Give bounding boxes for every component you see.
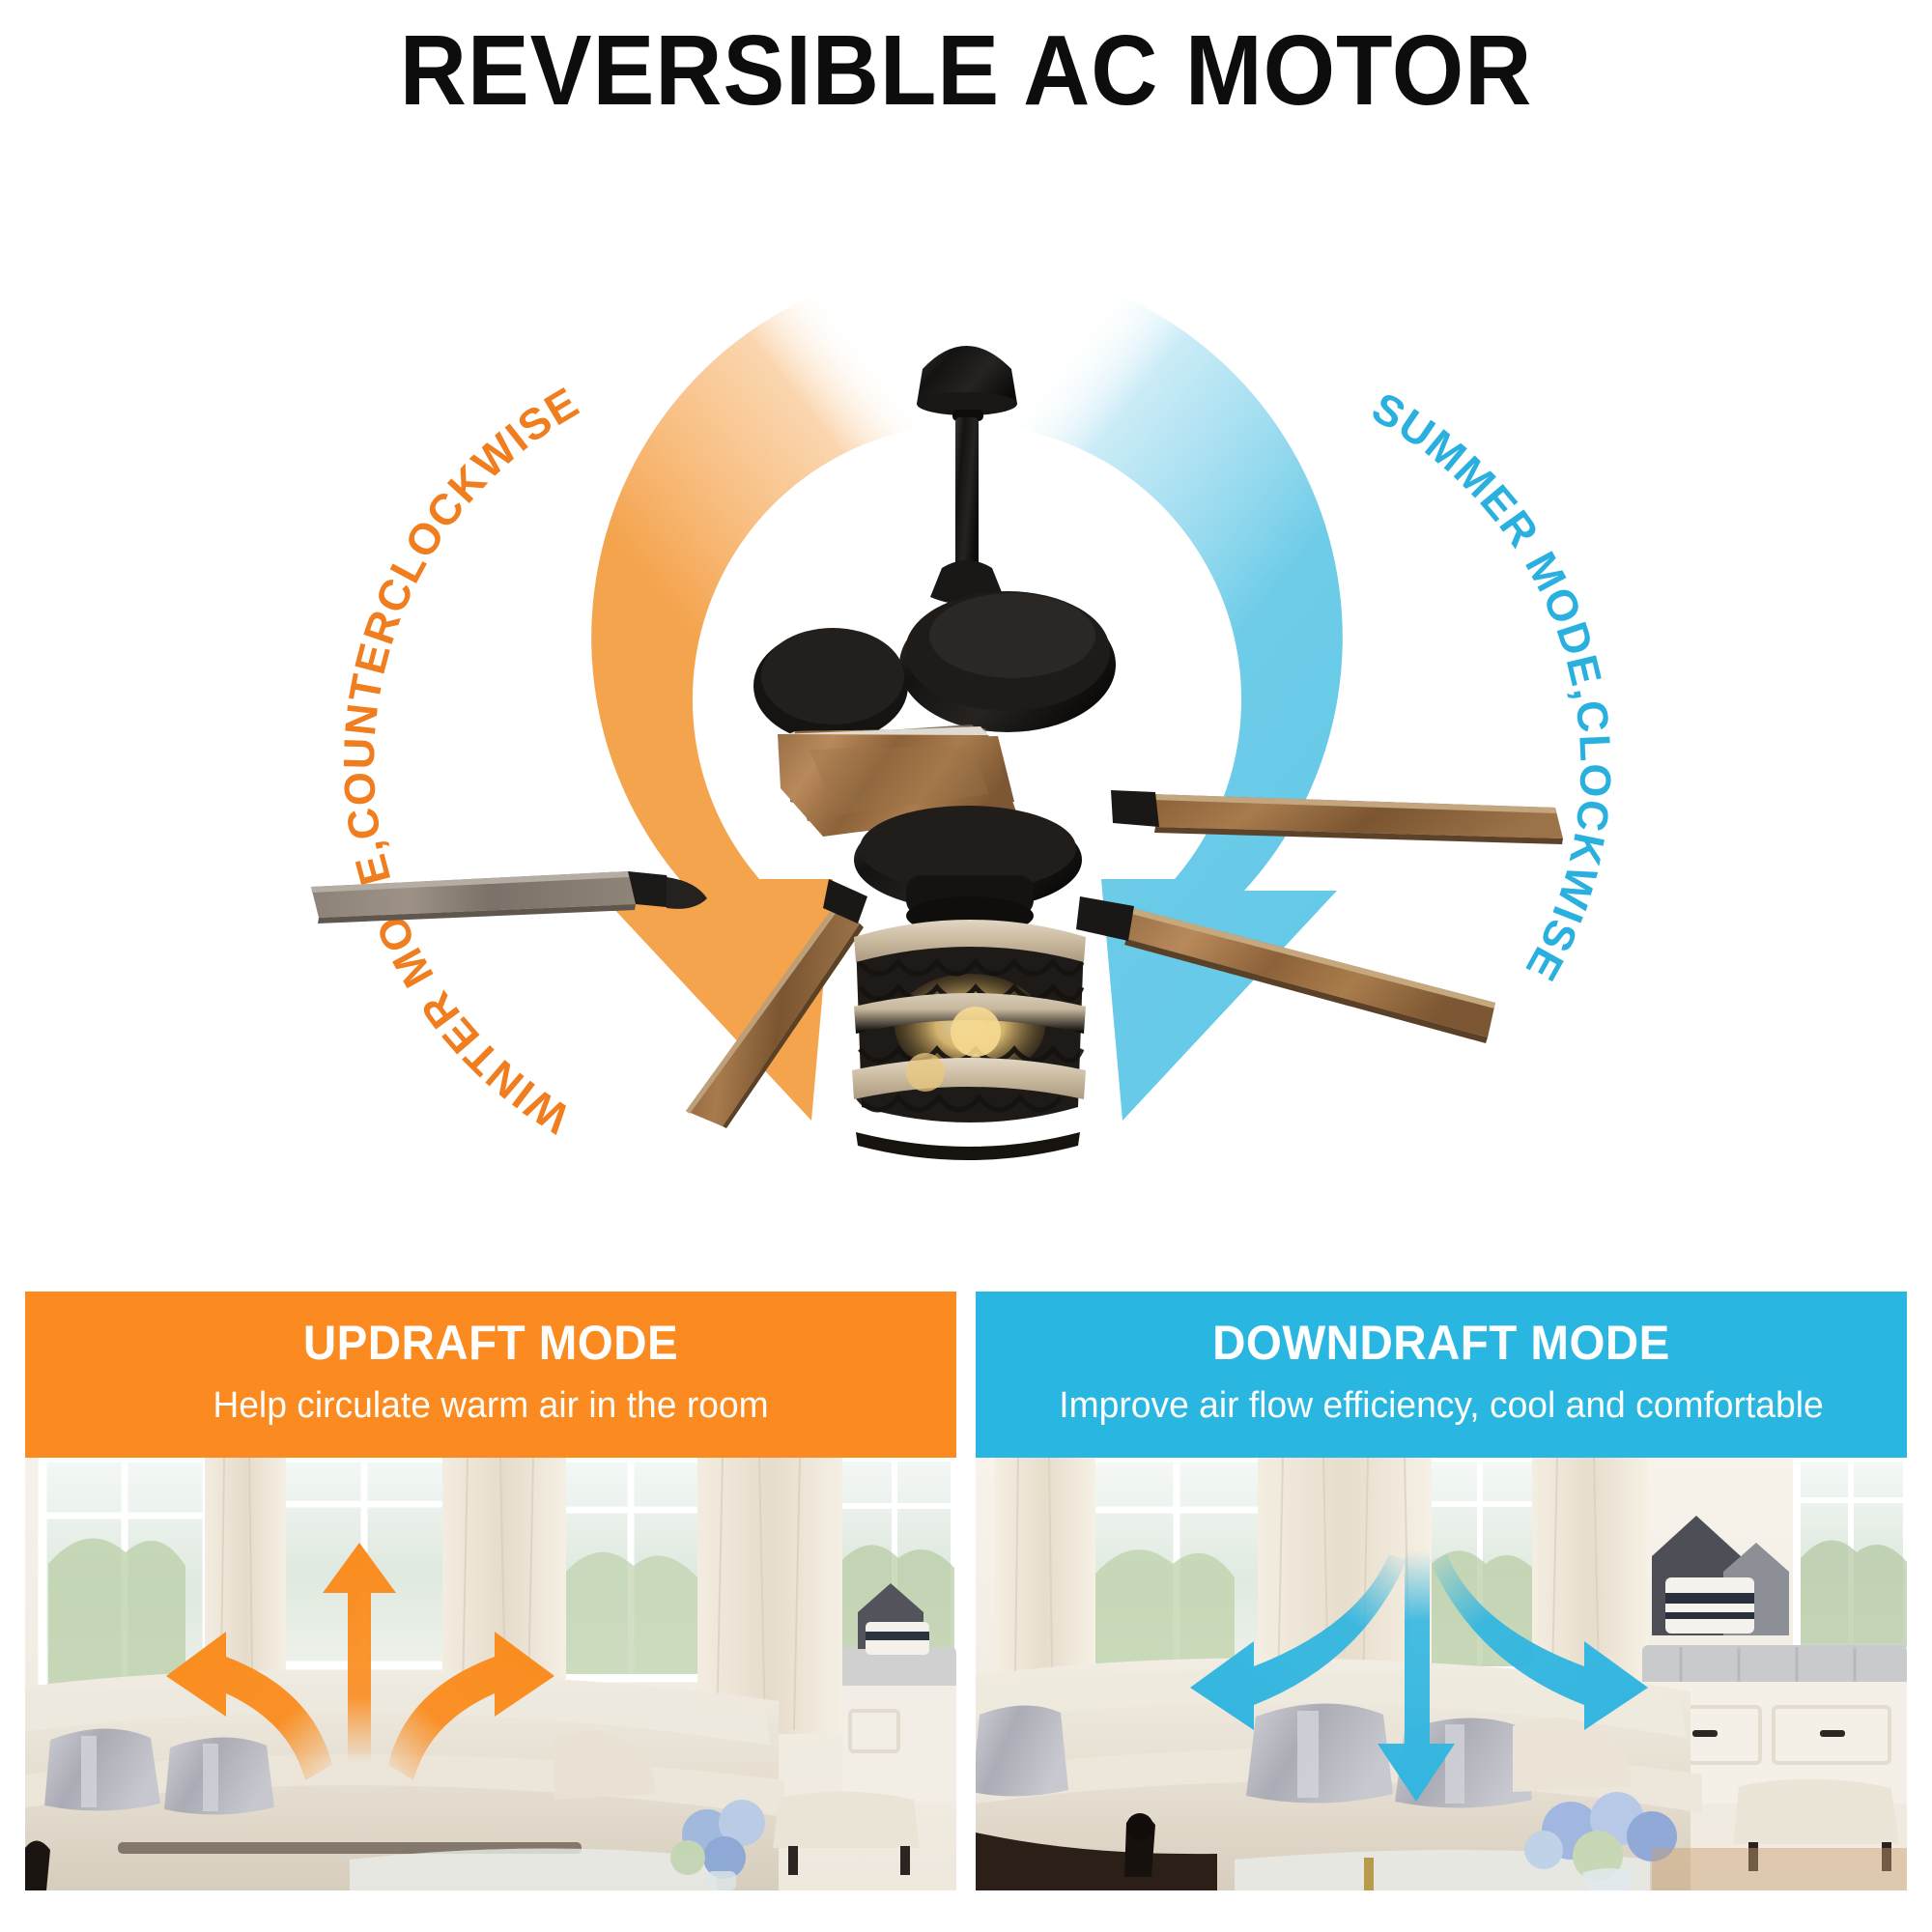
panel-updraft[interactable]: UPDRAFT MODE Help circulate warm air in … [25, 1292, 956, 1890]
curve-left-arrow [166, 1632, 332, 1780]
panel-downdraft[interactable]: DOWNDRAFT MODE Improve air flow efficien… [976, 1292, 1907, 1890]
curve-right-arrow [1430, 1554, 1648, 1730]
panel-updraft-subtitle: Help circulate warm air in the room [35, 1380, 948, 1431]
updraft-airflow-arrows [25, 1458, 956, 1890]
motor-housing [753, 560, 1116, 742]
panel-downdraft-header: DOWNDRAFT MODE Improve air flow efficien… [976, 1292, 1907, 1458]
panel-downdraft-subtitle: Improve air flow efficiency, cool and co… [985, 1380, 1898, 1431]
page-title: REVERSIBLE AC MOTOR [68, 17, 1864, 124]
panel-updraft-header: UPDRAFT MODE Help circulate warm air in … [25, 1292, 956, 1458]
curve-left-arrow [1190, 1554, 1406, 1730]
light-kit [852, 920, 1086, 1160]
reversible-motor-diagram: WINTER MODE,COUNTERCLOCKWISE SUMMER MODE… [0, 145, 1932, 1265]
up-center-arrow [323, 1543, 396, 1763]
downrod-icon [955, 417, 979, 572]
panel-downdraft-photo [976, 1458, 1907, 1890]
mode-panels: UPDRAFT MODE Help circulate warm air in … [0, 1292, 1932, 1890]
panel-updraft-title: UPDRAFT MODE [48, 1313, 933, 1373]
fan-blade [1111, 790, 1563, 844]
summer-mode-label: SUMMER MODE,CLOCKWISE [1364, 383, 1621, 990]
winter-mode-label: WINTER MODE,COUNTERCLOCKWISE [334, 377, 587, 1143]
curve-right-arrow [388, 1632, 554, 1780]
motor-hub [854, 806, 1082, 935]
panel-updraft-photo [25, 1458, 956, 1890]
diagram-svg: WINTER MODE,COUNTERCLOCKWISE SUMMER MODE… [0, 145, 1932, 1265]
panel-downdraft-title: DOWNDRAFT MODE [999, 1313, 1884, 1373]
downdraft-airflow-arrows [976, 1458, 1907, 1890]
